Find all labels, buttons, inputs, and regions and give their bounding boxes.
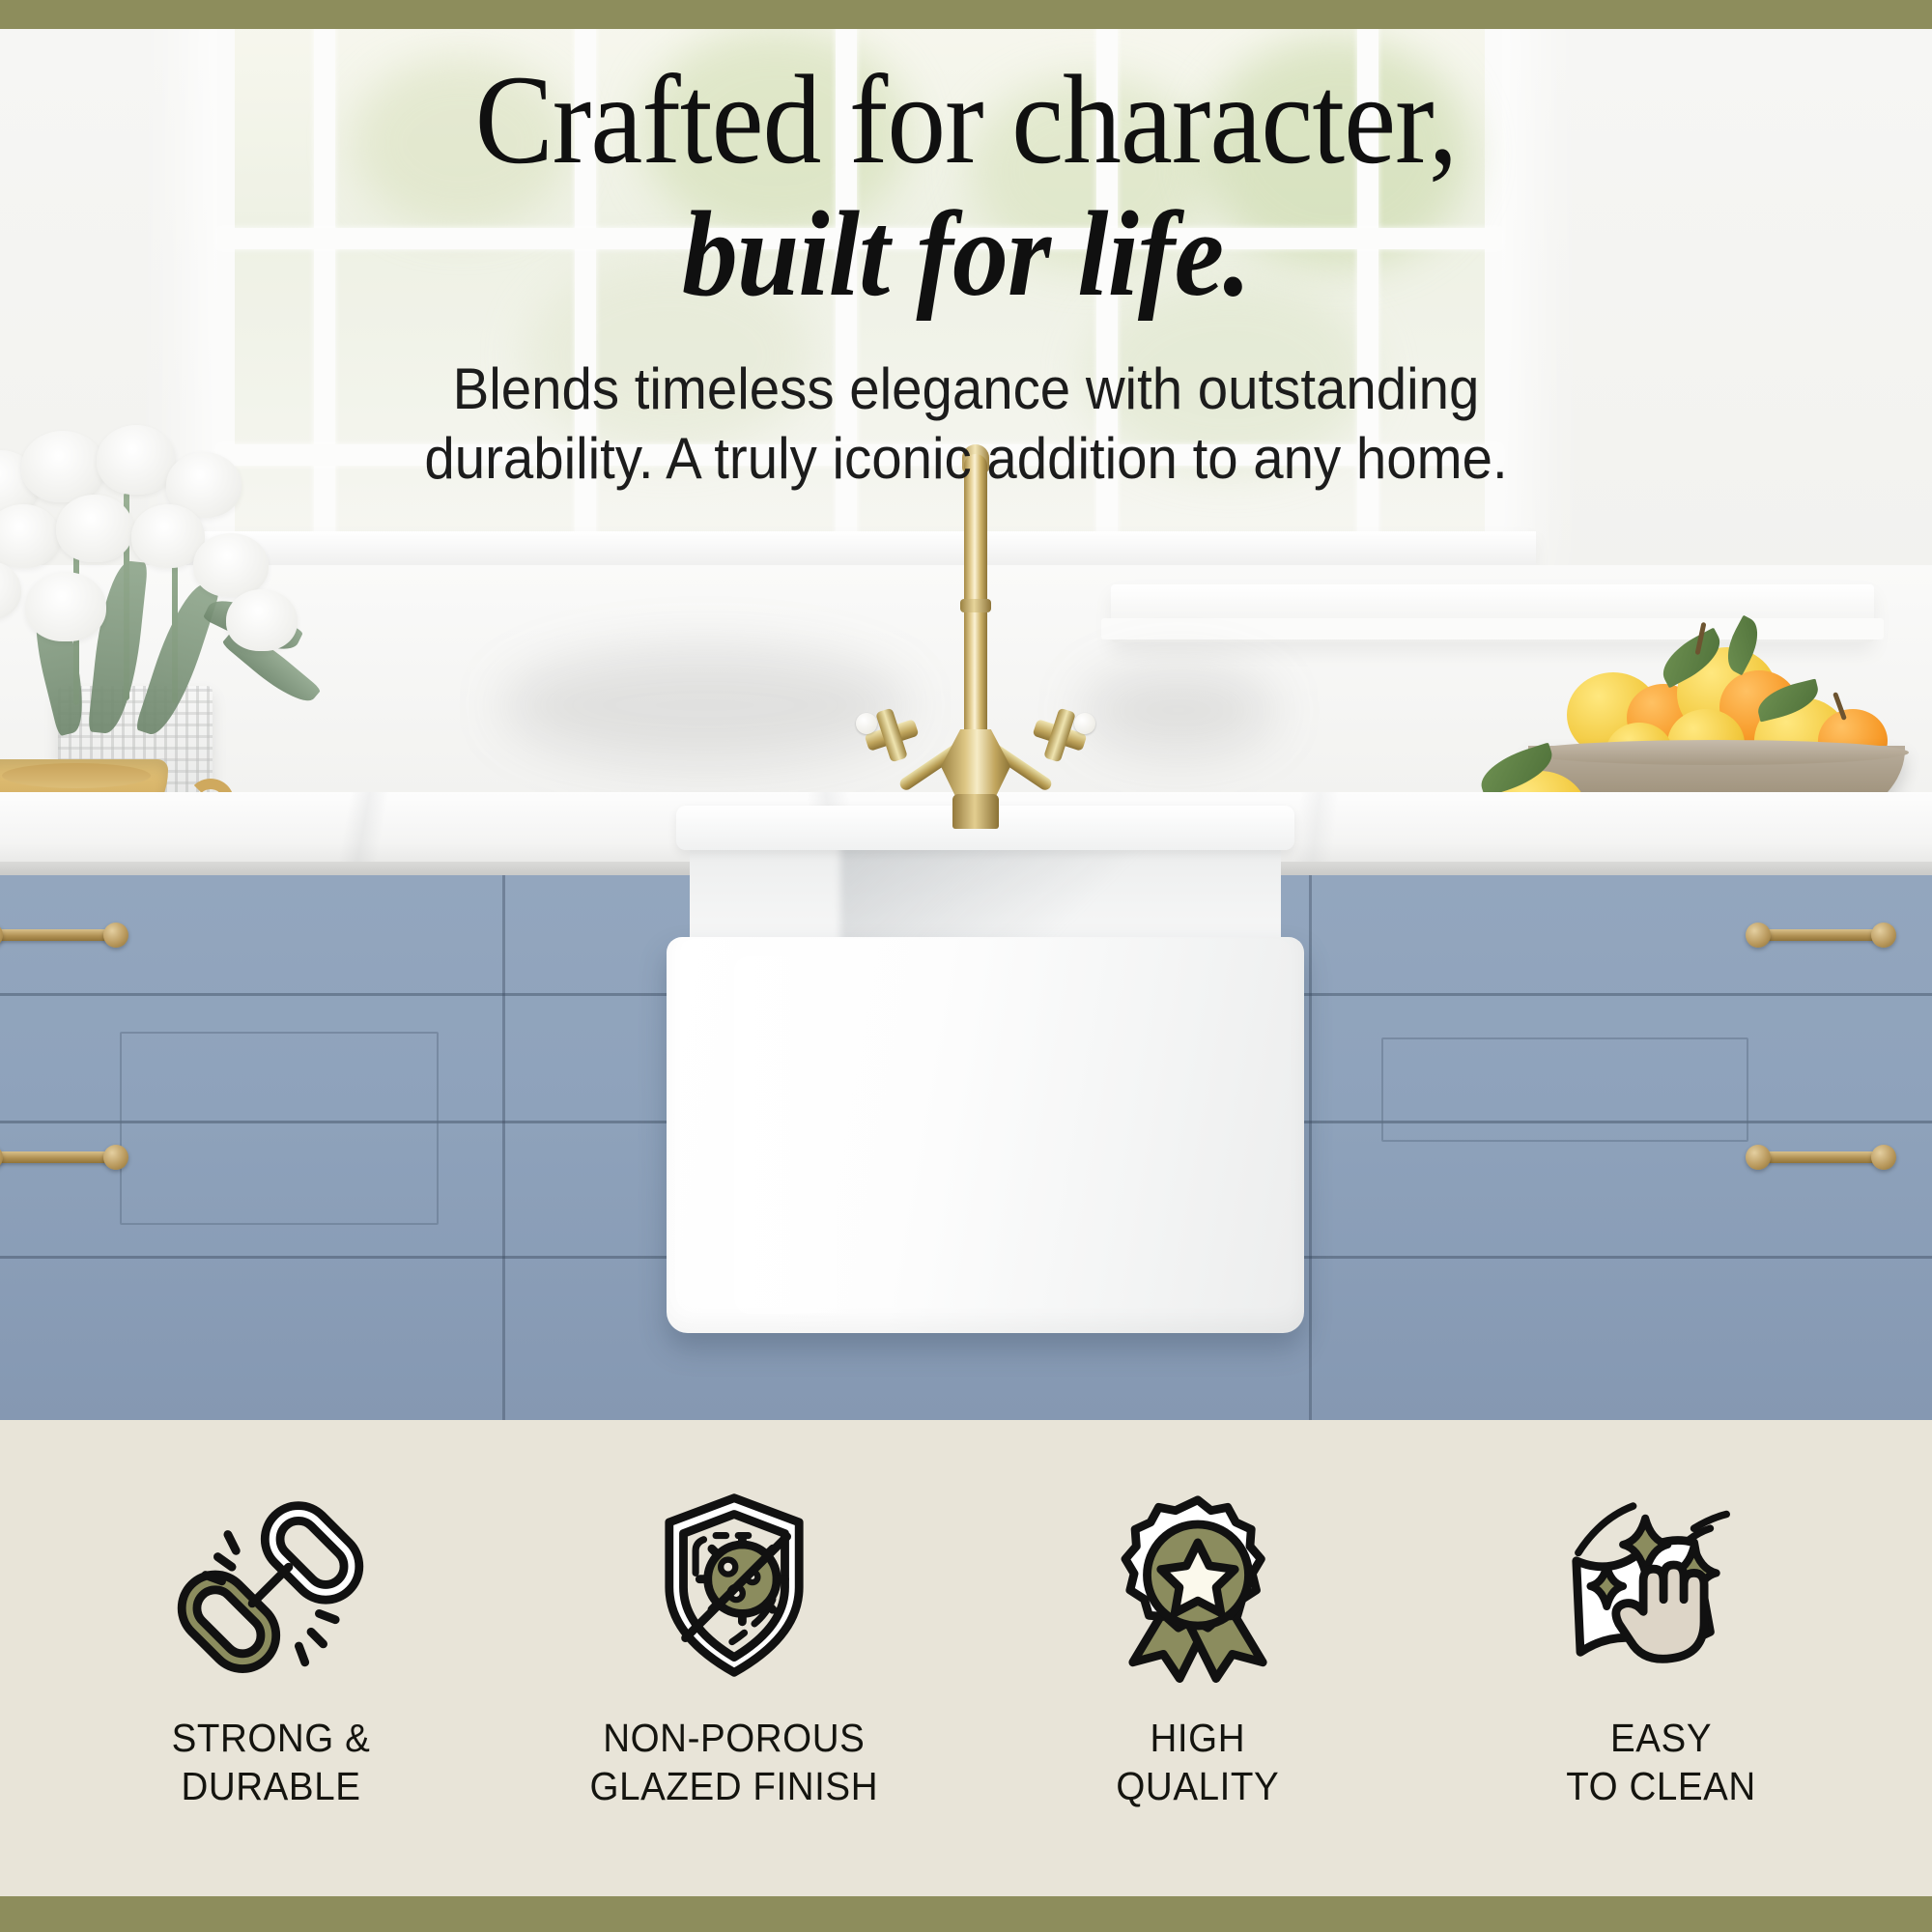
feature-label-line-2: GLAZED FINISH	[590, 1762, 879, 1810]
feature-label-strong-durable: STRONG & DURABLE	[171, 1714, 370, 1810]
bottom-accent-rail	[0, 1896, 1932, 1932]
subheadline-line-2: durability. A truly iconic addition to a…	[58, 424, 1874, 494]
feature-label-line-1: STRONG &	[171, 1716, 370, 1760]
feature-label-line-1: HIGH	[1151, 1716, 1246, 1760]
subheadline: Blends timeless elegance with outstandin…	[58, 355, 1874, 494]
chain-link-icon	[155, 1474, 386, 1696]
subheadline-line-1: Blends timeless elegance with outstandin…	[58, 355, 1874, 424]
headline-block: Crafted for character, built for life. B…	[0, 56, 1932, 494]
feature-label-line-2: TO CLEAN	[1567, 1762, 1757, 1810]
feature-non-porous: NON-POROUS GLAZED FINISH	[502, 1474, 966, 1810]
sink-apron-front	[667, 937, 1304, 1333]
headline-line-2: built for life.	[77, 184, 1855, 327]
shield-germ-blocked-icon	[618, 1474, 850, 1696]
feature-easy-to-clean: EASY TO CLEAN	[1430, 1474, 1893, 1810]
top-accent-rail	[0, 0, 1932, 29]
feature-bar: STRONG & DURABLE	[0, 1420, 1932, 1896]
headline-line-1: Crafted for character,	[77, 56, 1855, 184]
feature-label-high-quality: HIGH QUALITY	[1117, 1714, 1280, 1810]
brass-faucet	[898, 454, 1053, 831]
product-banner: Crafted for character, built for life. B…	[0, 0, 1932, 1932]
feature-label-non-porous: NON-POROUS GLAZED FINISH	[590, 1714, 879, 1810]
hand-wiping-cloth-sparkle-icon	[1546, 1474, 1777, 1696]
feature-high-quality: HIGH QUALITY	[966, 1474, 1430, 1810]
feature-label-line-1: NON-POROUS	[603, 1716, 865, 1760]
farmhouse-apron-sink	[667, 802, 1304, 1381]
feature-strong-durable: STRONG & DURABLE	[39, 1474, 502, 1810]
feature-label-line-1: EASY	[1610, 1716, 1712, 1760]
feature-label-line-2: QUALITY	[1117, 1762, 1280, 1810]
feature-label-easy-to-clean: EASY TO CLEAN	[1567, 1714, 1757, 1810]
award-badge-star-icon	[1082, 1474, 1314, 1696]
feature-label-line-2: DURABLE	[171, 1762, 370, 1810]
